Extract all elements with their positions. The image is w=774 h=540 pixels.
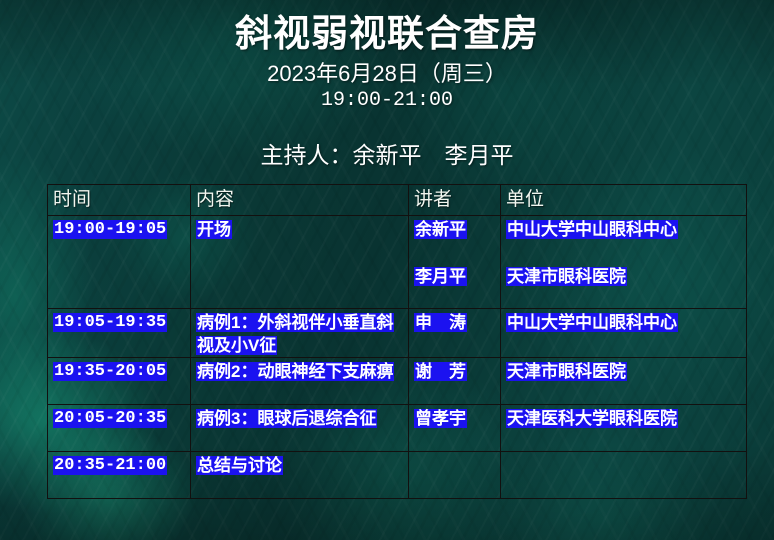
- cell-content: 病例3：眼球后退综合征: [191, 405, 409, 452]
- time-value: 19:00-19:05: [53, 220, 167, 239]
- time-value: 19:35-20:05: [53, 362, 167, 381]
- header-cell-content: 内容: [191, 185, 409, 216]
- cell-time: 20:35-21:00: [48, 452, 191, 499]
- header-label-unit: 单位: [506, 187, 544, 212]
- cell-content: 开场: [191, 216, 409, 309]
- time-value: 19:05-19:35: [53, 313, 167, 332]
- speaker-value: 余新平: [414, 220, 467, 239]
- table-row: 20:05-20:35 病例3：眼球后退综合征 曾孝宇 天津医科大学眼科医院: [48, 405, 747, 452]
- unit-value: 中山大学中山眼科中心: [506, 220, 678, 239]
- header-label-content: 内容: [196, 187, 234, 212]
- cell-speaker: 申 涛: [409, 309, 501, 358]
- header-label-speaker: 讲者: [414, 187, 452, 212]
- cell-speaker: 谢 芳: [409, 358, 501, 405]
- unit-value-secondary: 天津市眼科医院: [506, 267, 627, 286]
- header-cell-speaker: 讲者: [409, 185, 501, 216]
- unit-value: 天津医科大学眼科医院: [506, 409, 678, 428]
- cell-time: 19:05-19:35: [48, 309, 191, 358]
- content-value: 病例1：外斜视伴小垂直斜视及小V征: [196, 313, 394, 355]
- schedule-table-wrapper: 时间 内容 讲者 单位 19:00-19:05: [47, 184, 746, 499]
- cell-unit: 中山大学中山眼科中心: [501, 309, 747, 358]
- table-row: 19:00-19:05 开场 余新平 李月平 中山大学中山眼科中心 天津市眼科医…: [48, 216, 747, 309]
- speaker-value: 谢 芳: [414, 362, 467, 381]
- speaker-row-gap: [414, 241, 500, 265]
- content-value: 开场: [196, 220, 232, 239]
- header-cell-unit: 单位: [501, 185, 747, 216]
- cell-content: 病例1：外斜视伴小垂直斜视及小V征: [191, 309, 409, 358]
- unit-value: 中山大学中山眼科中心: [506, 313, 678, 332]
- table-row: 20:35-21:00 总结与讨论: [48, 452, 747, 499]
- cell-time: 19:00-19:05: [48, 216, 191, 309]
- time-value: 20:05-20:35: [53, 409, 167, 428]
- cell-content: 总结与讨论: [191, 452, 409, 499]
- cell-speaker: 曾孝宇: [409, 405, 501, 452]
- table-row: 19:35-20:05 病例2：动眼神经下支麻痹 谢 芳 天津市眼科医院: [48, 358, 747, 405]
- cell-unit: 天津市眼科医院: [501, 358, 747, 405]
- cell-content: 病例2：动眼神经下支麻痹: [191, 358, 409, 405]
- slide-host-line: 主持人：余新平 李月平: [0, 140, 774, 170]
- slide-content: 斜视弱视联合查房 2023年6月28日（周三） 19:00-21:00 主持人：…: [0, 0, 774, 540]
- speaker-value: 曾孝宇: [414, 409, 467, 428]
- time-value: 20:35-21:00: [53, 456, 167, 475]
- speaker-value-secondary: 李月平: [414, 267, 467, 286]
- presentation-slide: 斜视弱视联合查房 2023年6月28日（周三） 19:00-21:00 主持人：…: [0, 0, 774, 540]
- content-value: 病例3：眼球后退综合征: [196, 409, 377, 428]
- cell-time: 19:35-20:05: [48, 358, 191, 405]
- slide-date: 2023年6月28日（周三）: [0, 60, 774, 88]
- schedule-table: 时间 内容 讲者 单位 19:00-19:05: [47, 184, 747, 499]
- header-cell-time: 时间: [48, 185, 191, 216]
- slide-title: 斜视弱视联合查房: [0, 12, 774, 56]
- table-row: 19:05-19:35 病例1：外斜视伴小垂直斜视及小V征 申 涛 中山大学中山…: [48, 309, 747, 358]
- content-value: 病例2：动眼神经下支麻痹: [196, 362, 394, 381]
- unit-value: 天津市眼科医院: [506, 362, 627, 381]
- cell-unit: [501, 452, 747, 499]
- cell-speaker: [409, 452, 501, 499]
- cell-time: 20:05-20:35: [48, 405, 191, 452]
- unit-row-gap: [506, 241, 746, 265]
- slide-time-range: 19:00-21:00: [0, 88, 774, 114]
- speaker-value: 申 涛: [414, 313, 467, 332]
- cell-unit: 天津医科大学眼科医院: [501, 405, 747, 452]
- header-label-time: 时间: [53, 187, 91, 212]
- cell-unit: 中山大学中山眼科中心 天津市眼科医院: [501, 216, 747, 309]
- cell-speaker: 余新平 李月平: [409, 216, 501, 309]
- content-value: 总结与讨论: [196, 456, 283, 475]
- table-header-row: 时间 内容 讲者 单位: [48, 185, 747, 216]
